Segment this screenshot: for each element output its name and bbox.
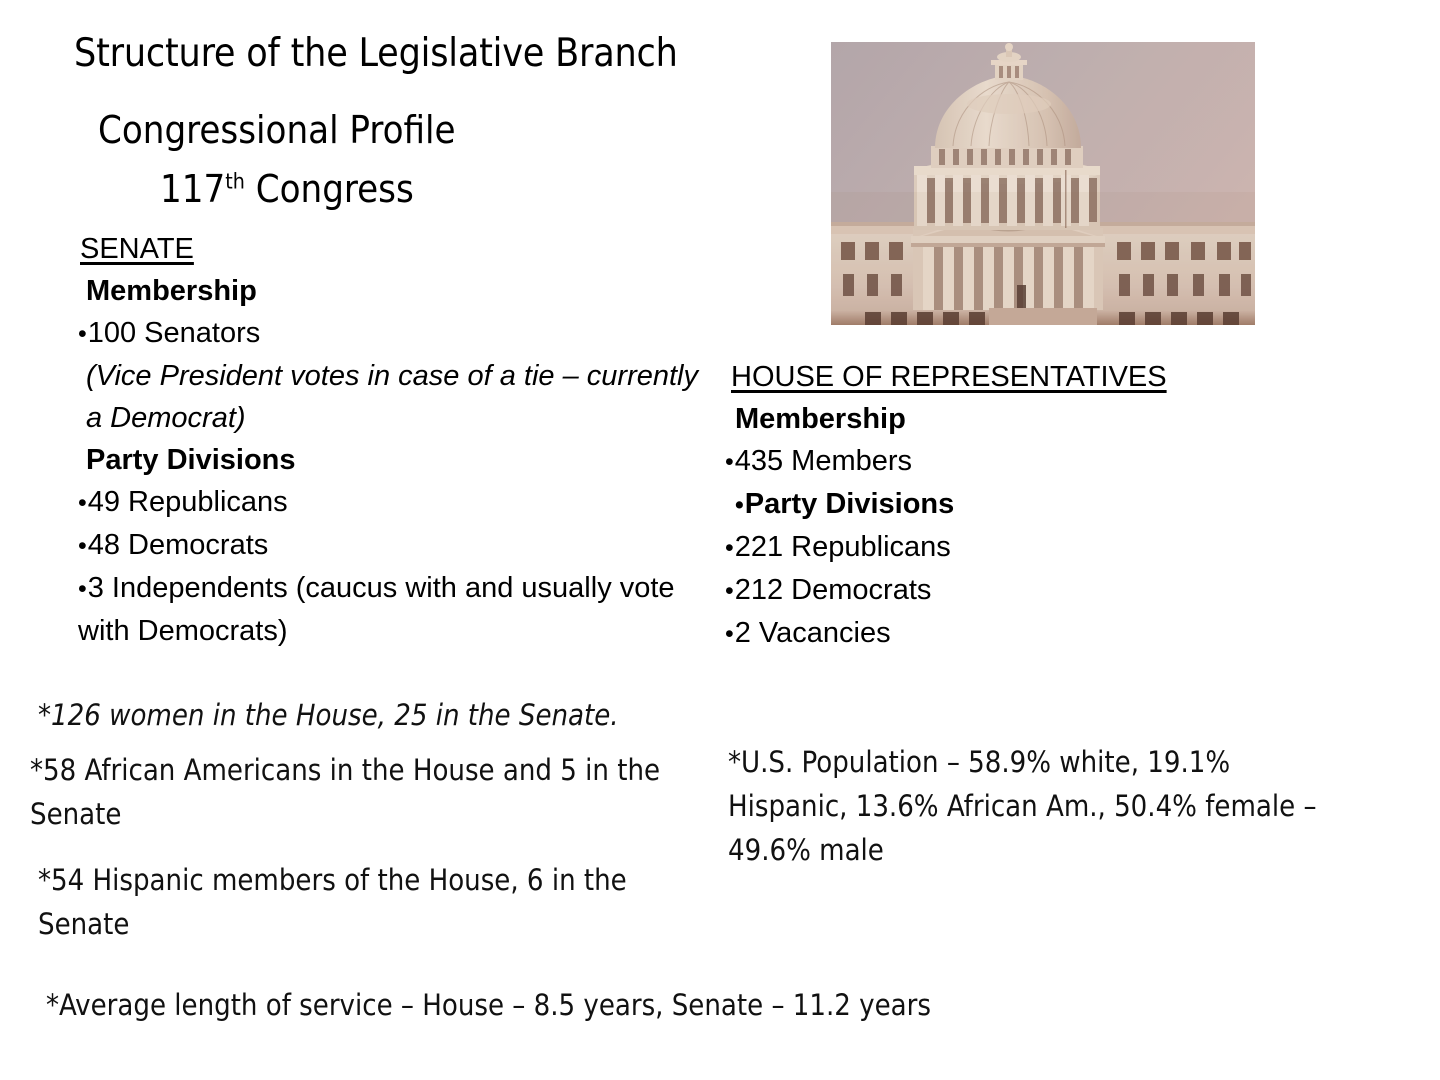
subtitle-congress-number: 117th Congress — [160, 167, 414, 211]
senate-membership-label: Membership — [86, 270, 698, 312]
house-heading: HOUSE OF REPRESENTATIVES — [731, 356, 1325, 398]
congress-ordinal-suffix: th — [225, 169, 245, 194]
note-women-in-congress: *126 women in the House, 25 in the Senat… — [38, 693, 718, 737]
senate-party-item-independents: 3 Independents (caucus with and usually … — [78, 567, 698, 652]
house-membership-label: Membership — [735, 398, 1325, 440]
house-party-item-republicans: 221 Republicans — [725, 526, 1325, 569]
congress-number: 117 — [160, 167, 225, 211]
senate-party-item-republicans: 49 Republicans — [78, 481, 698, 524]
senate-party-item-democrats: 48 Democrats — [78, 524, 698, 567]
note-african-americans: *58 African Americans in the House and 5… — [30, 748, 670, 836]
house-party-divisions-label: Party Divisions — [735, 483, 1325, 526]
senate-membership-item: 100 Senators — [78, 312, 698, 355]
house-membership-item: 435 Members — [725, 440, 1325, 483]
congress-word: Congress — [245, 167, 414, 211]
note-average-length-of-service: *Average length of service – House – 8.5… — [46, 983, 1106, 1027]
subtitle-congressional-profile: Congressional Profile — [98, 108, 456, 152]
house-section: HOUSE OF REPRESENTATIVES Membership 435 … — [725, 356, 1325, 655]
senate-membership-note: (Vice President votes in case of a tie –… — [86, 355, 698, 439]
us-capitol-building-photo — [831, 42, 1255, 325]
house-party-item-vacancies: 2 Vacancies — [725, 612, 1325, 655]
slide-canvas: Structure of the Legislative Branch Cong… — [0, 0, 1440, 1080]
house-party-item-democrats: 212 Democrats — [725, 569, 1325, 612]
senate-section: SENATE Membership 100 Senators (Vice Pre… — [78, 228, 698, 652]
page-title: Structure of the Legislative Branch — [74, 31, 678, 76]
note-hispanic-members: *54 Hispanic members of the House, 6 in … — [38, 858, 658, 946]
senate-heading: SENATE — [80, 228, 698, 270]
note-us-population: *U.S. Population – 58.9% white, 19.1% Hi… — [728, 740, 1328, 872]
senate-party-divisions-label: Party Divisions — [86, 439, 698, 481]
